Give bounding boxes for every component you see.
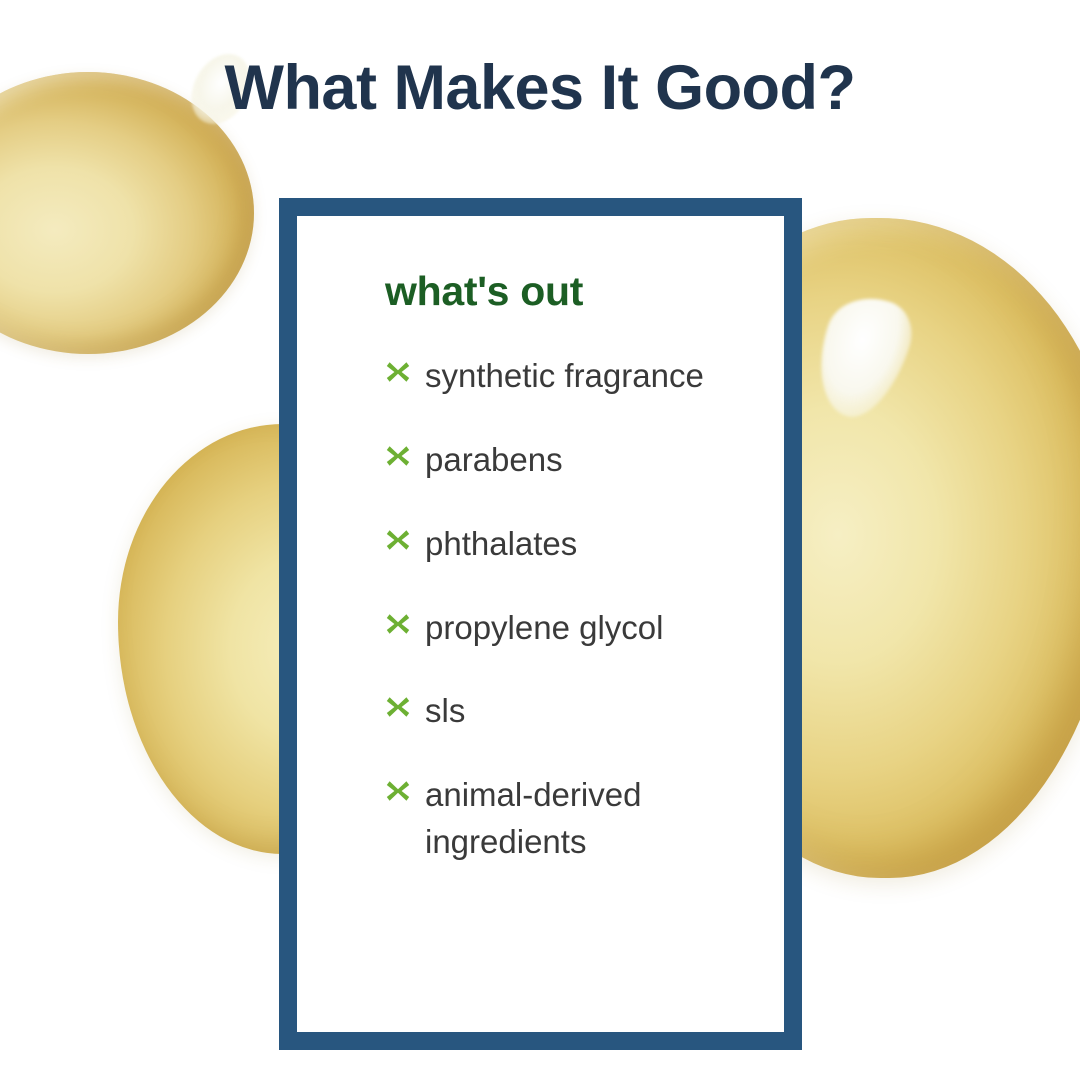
whats-out-list: synthetic fragrance parabens [385, 353, 756, 866]
page-title: What Makes It Good? [0, 52, 1080, 124]
list-item-label: animal-derived ingredients [425, 772, 755, 866]
list-item-label: synthetic fragrance [425, 353, 704, 400]
x-mark-icon [385, 694, 411, 724]
list-item: sls [385, 688, 756, 735]
list-item-label: phthalates [425, 521, 577, 568]
list-item: parabens [385, 437, 756, 484]
x-mark-icon [385, 527, 411, 557]
list-item: synthetic fragrance [385, 353, 756, 400]
list-item-label: parabens [425, 437, 563, 484]
list-item: propylene glycol [385, 605, 756, 652]
x-mark-icon [385, 778, 411, 808]
x-mark-icon [385, 359, 411, 389]
whats-out-heading: what's out [385, 268, 756, 315]
list-item-label: propylene glycol [425, 605, 663, 652]
list-item: animal-derived ingredients [385, 772, 756, 866]
list-item-label: sls [425, 688, 465, 735]
poster-canvas: What Makes It Good? what's out synthetic… [0, 0, 1080, 1080]
oil-droplet-right-highlight [803, 286, 921, 428]
x-mark-icon [385, 611, 411, 641]
list-item: phthalates [385, 521, 756, 568]
x-mark-icon [385, 443, 411, 473]
whats-out-card: what's out synthetic fragrance [279, 198, 802, 1050]
whats-out-card-inner: what's out synthetic fragrance [297, 216, 784, 1032]
